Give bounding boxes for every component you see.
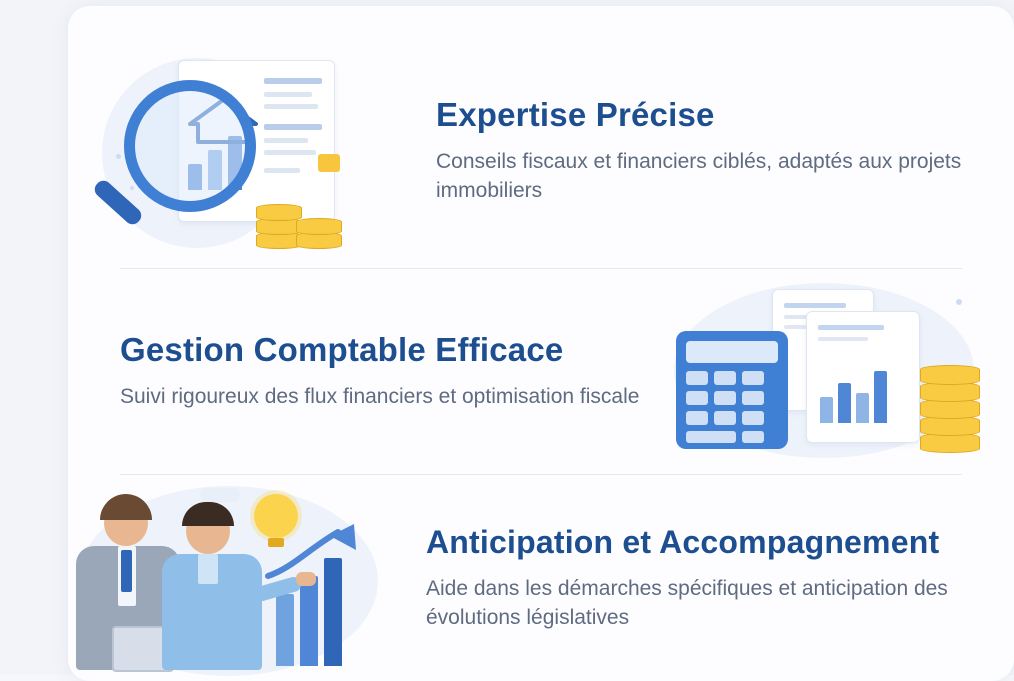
feature-title: Expertise Précise [436,96,1000,135]
features-card: Expertise Précise Conseils fiscaux et fi… [68,6,1014,681]
divider-2 [120,474,962,475]
feature-description: Conseils fiscaux et financiers ciblés, a… [436,147,1000,207]
feature-title: Anticipation et Accompagnement [426,524,1000,562]
feature-row-gestion: Gestion Comptable Efficace Suivi rigoure… [68,271,1014,471]
feature-description: Suivi rigoureux des flux financiers et o… [120,382,640,412]
feature-row-expertise: Expertise Précise Conseils fiscaux et fi… [68,36,1014,266]
feature-text-anticipation: Anticipation et Accompagnement Aide dans… [408,524,1014,633]
feature-row-anticipation: Anticipation et Accompagnement Aide dans… [68,476,1014,681]
two-people-lightbulb-chart-icon [68,476,408,681]
page-root: Expertise Précise Conseils fiscaux et fi… [0,0,1014,675]
divider-1 [120,268,962,269]
feature-title: Gestion Comptable Efficace [120,331,640,370]
calculator-documents-coins-icon [654,271,1014,471]
feature-text-gestion: Gestion Comptable Efficace Suivi rigoure… [68,331,654,412]
feature-description: Aide dans les démarches spécifiques et a… [426,574,1000,634]
magnifier-document-coins-icon [68,36,418,266]
feature-text-expertise: Expertise Précise Conseils fiscaux et fi… [418,96,1014,207]
